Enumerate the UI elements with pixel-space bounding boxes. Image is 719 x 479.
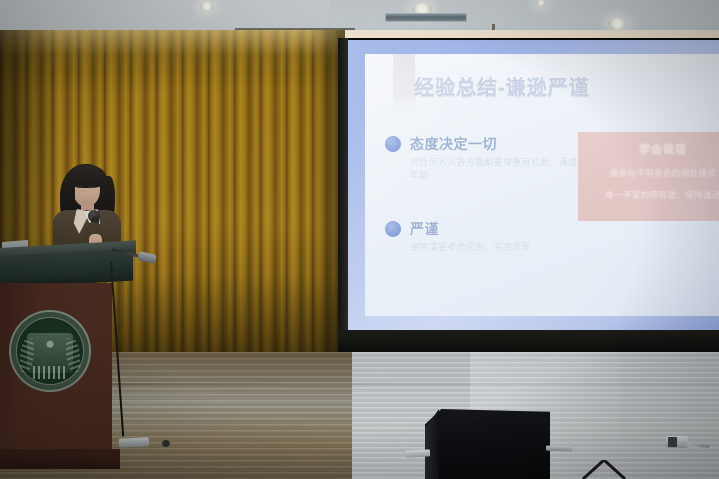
bullet-dot-icon: [385, 136, 401, 152]
downlight-icon: [536, 0, 546, 6]
floor-object-body: [668, 437, 677, 447]
slide-bullet-2: 严谨: [385, 219, 439, 239]
eye-left: [77, 186, 82, 188]
wedge-foot-right: [546, 446, 572, 452]
callout-line-2: 唯一不变的原则是：保持谦逊: [586, 189, 719, 201]
ceiling-air-vent: [385, 13, 467, 22]
eye-right: [89, 186, 94, 188]
slide-bullet-1: 态度决定一切: [385, 134, 497, 154]
wedge-foot-left: [406, 449, 430, 457]
bullet-1-subtext: 对任何人从各方面都要尊重有礼貌、谦虚•年龄: [410, 156, 586, 182]
seal-pillars: [33, 366, 67, 379]
bullet-2-heading: 严谨: [410, 219, 439, 239]
presentation-slide: 经验总结-谦逊严谨 态度决定一切 对任何人从各方面都要尊重有礼貌、谦虚•年龄 严…: [365, 54, 719, 316]
floor-cable-connector: [119, 437, 149, 448]
screen-bezel-left: [338, 38, 348, 350]
slide-title: 经验总结-谦逊严谨: [414, 71, 590, 100]
downlight-icon: [200, 2, 214, 11]
stage-wedge-speaker: [425, 409, 550, 479]
stand-leg-icon: [582, 460, 626, 479]
bullet-2-subtext: 事情需要考虑周到，实事求是: [410, 241, 531, 254]
projection-screen[interactable]: 经验总结-谦逊严谨 态度决定一切 对任何人从各方面都要尊重有礼貌、谦虚•年龄 严…: [348, 40, 719, 332]
ceiling-left-panel: [0, 0, 330, 30]
downlight-icon: [608, 18, 627, 30]
slide-callout-box: 学会说话 摸索与不同角色的相处模式 唯一不变的原则是：保持谦逊: [578, 132, 719, 221]
bullet-1-heading: 态度决定一切: [410, 134, 497, 154]
screen-bezel-bottom: [338, 330, 719, 352]
callout-title: 学会说话: [586, 141, 719, 157]
medical-academy-seal-icon: [9, 310, 91, 392]
slide-accent-bar: [393, 54, 415, 112]
floor-cable-nub: [162, 440, 170, 447]
auditorium-scene: 经验总结-谦逊严谨 态度决定一切 对任何人从各方面都要尊重有礼貌、谦虚•年龄 严…: [0, 0, 719, 479]
bullet-dot-icon: [385, 221, 401, 237]
callout-line-1: 摸索与不同角色的相处模式: [586, 167, 719, 179]
lectern-base: [0, 449, 120, 469]
